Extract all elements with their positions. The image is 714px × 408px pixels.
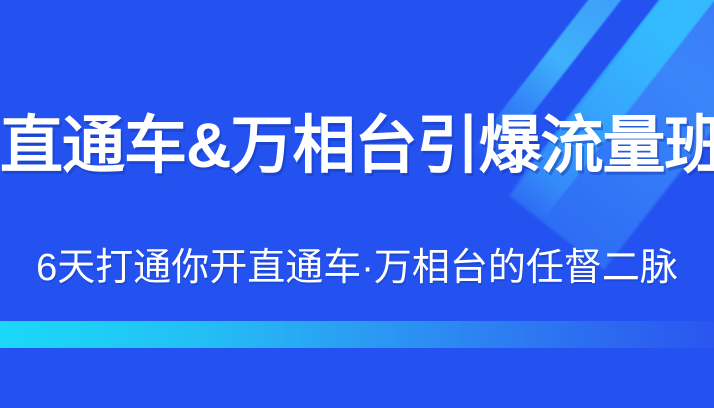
accent-gradient-band — [0, 321, 714, 348]
banner-title: 直通车&万相台引爆流量班 — [0, 108, 714, 184]
promo-banner: 直通车&万相台引爆流量班 6天打通你开直通车·万相台的任督二脉 — [0, 0, 714, 408]
banner-subtitle: 6天打通你开直通车·万相台的任督二脉 — [0, 244, 714, 292]
